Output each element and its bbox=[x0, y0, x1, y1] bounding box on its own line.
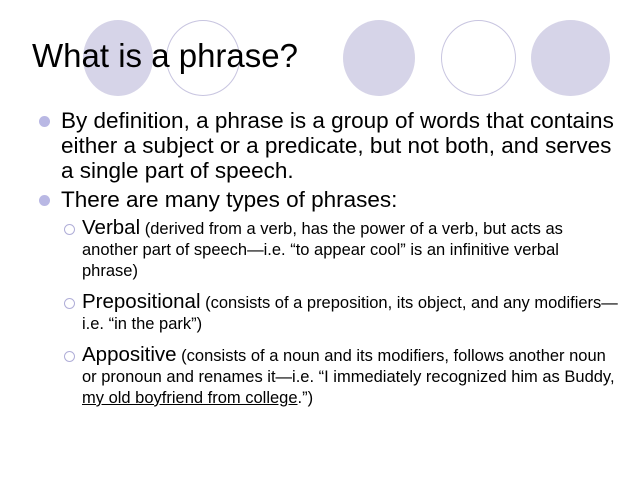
sub-bullet-term: Verbal bbox=[82, 216, 140, 239]
presentation-slide: What is a phrase? By definition, a phras… bbox=[0, 0, 638, 479]
bullet-text: There are many types of phrases: bbox=[61, 187, 397, 212]
bullet-marker-filled-circle-icon bbox=[39, 195, 50, 206]
sub-bullet-list: Verbal (derived from a verb, has the pow… bbox=[32, 217, 618, 409]
sub-bullet-detail-tail: .”) bbox=[298, 389, 314, 407]
sub-bullet-detail: (derived from a verb, has the power of a… bbox=[82, 220, 563, 280]
sub-bullet-marker-hollow-circle-icon bbox=[64, 298, 75, 309]
sub-bullet-item-verbal: Verbal (derived from a verb, has the pow… bbox=[32, 217, 618, 282]
sub-bullet-marker-hollow-circle-icon bbox=[64, 224, 75, 235]
sub-bullet-term: Appositive bbox=[82, 343, 177, 366]
slide-title: What is a phrase? bbox=[32, 36, 572, 76]
sub-bullet-item-appositive: Appositive (consists of a noun and its m… bbox=[32, 344, 618, 409]
bullet-text: By definition, a phrase is a group of wo… bbox=[61, 108, 614, 183]
sub-bullet-term: Prepositional bbox=[82, 290, 201, 313]
sub-bullet-underlined-phrase: my old boyfriend from college bbox=[82, 389, 298, 407]
bullet-item: By definition, a phrase is a group of wo… bbox=[32, 108, 618, 183]
sub-bullet-marker-hollow-circle-icon bbox=[64, 351, 75, 362]
bullet-item: There are many types of phrases: bbox=[32, 187, 618, 212]
sub-bullet-item-prepositional: Prepositional (consists of a preposition… bbox=[32, 291, 618, 335]
bullet-marker-filled-circle-icon bbox=[39, 116, 50, 127]
slide-body: By definition, a phrase is a group of wo… bbox=[32, 108, 618, 418]
